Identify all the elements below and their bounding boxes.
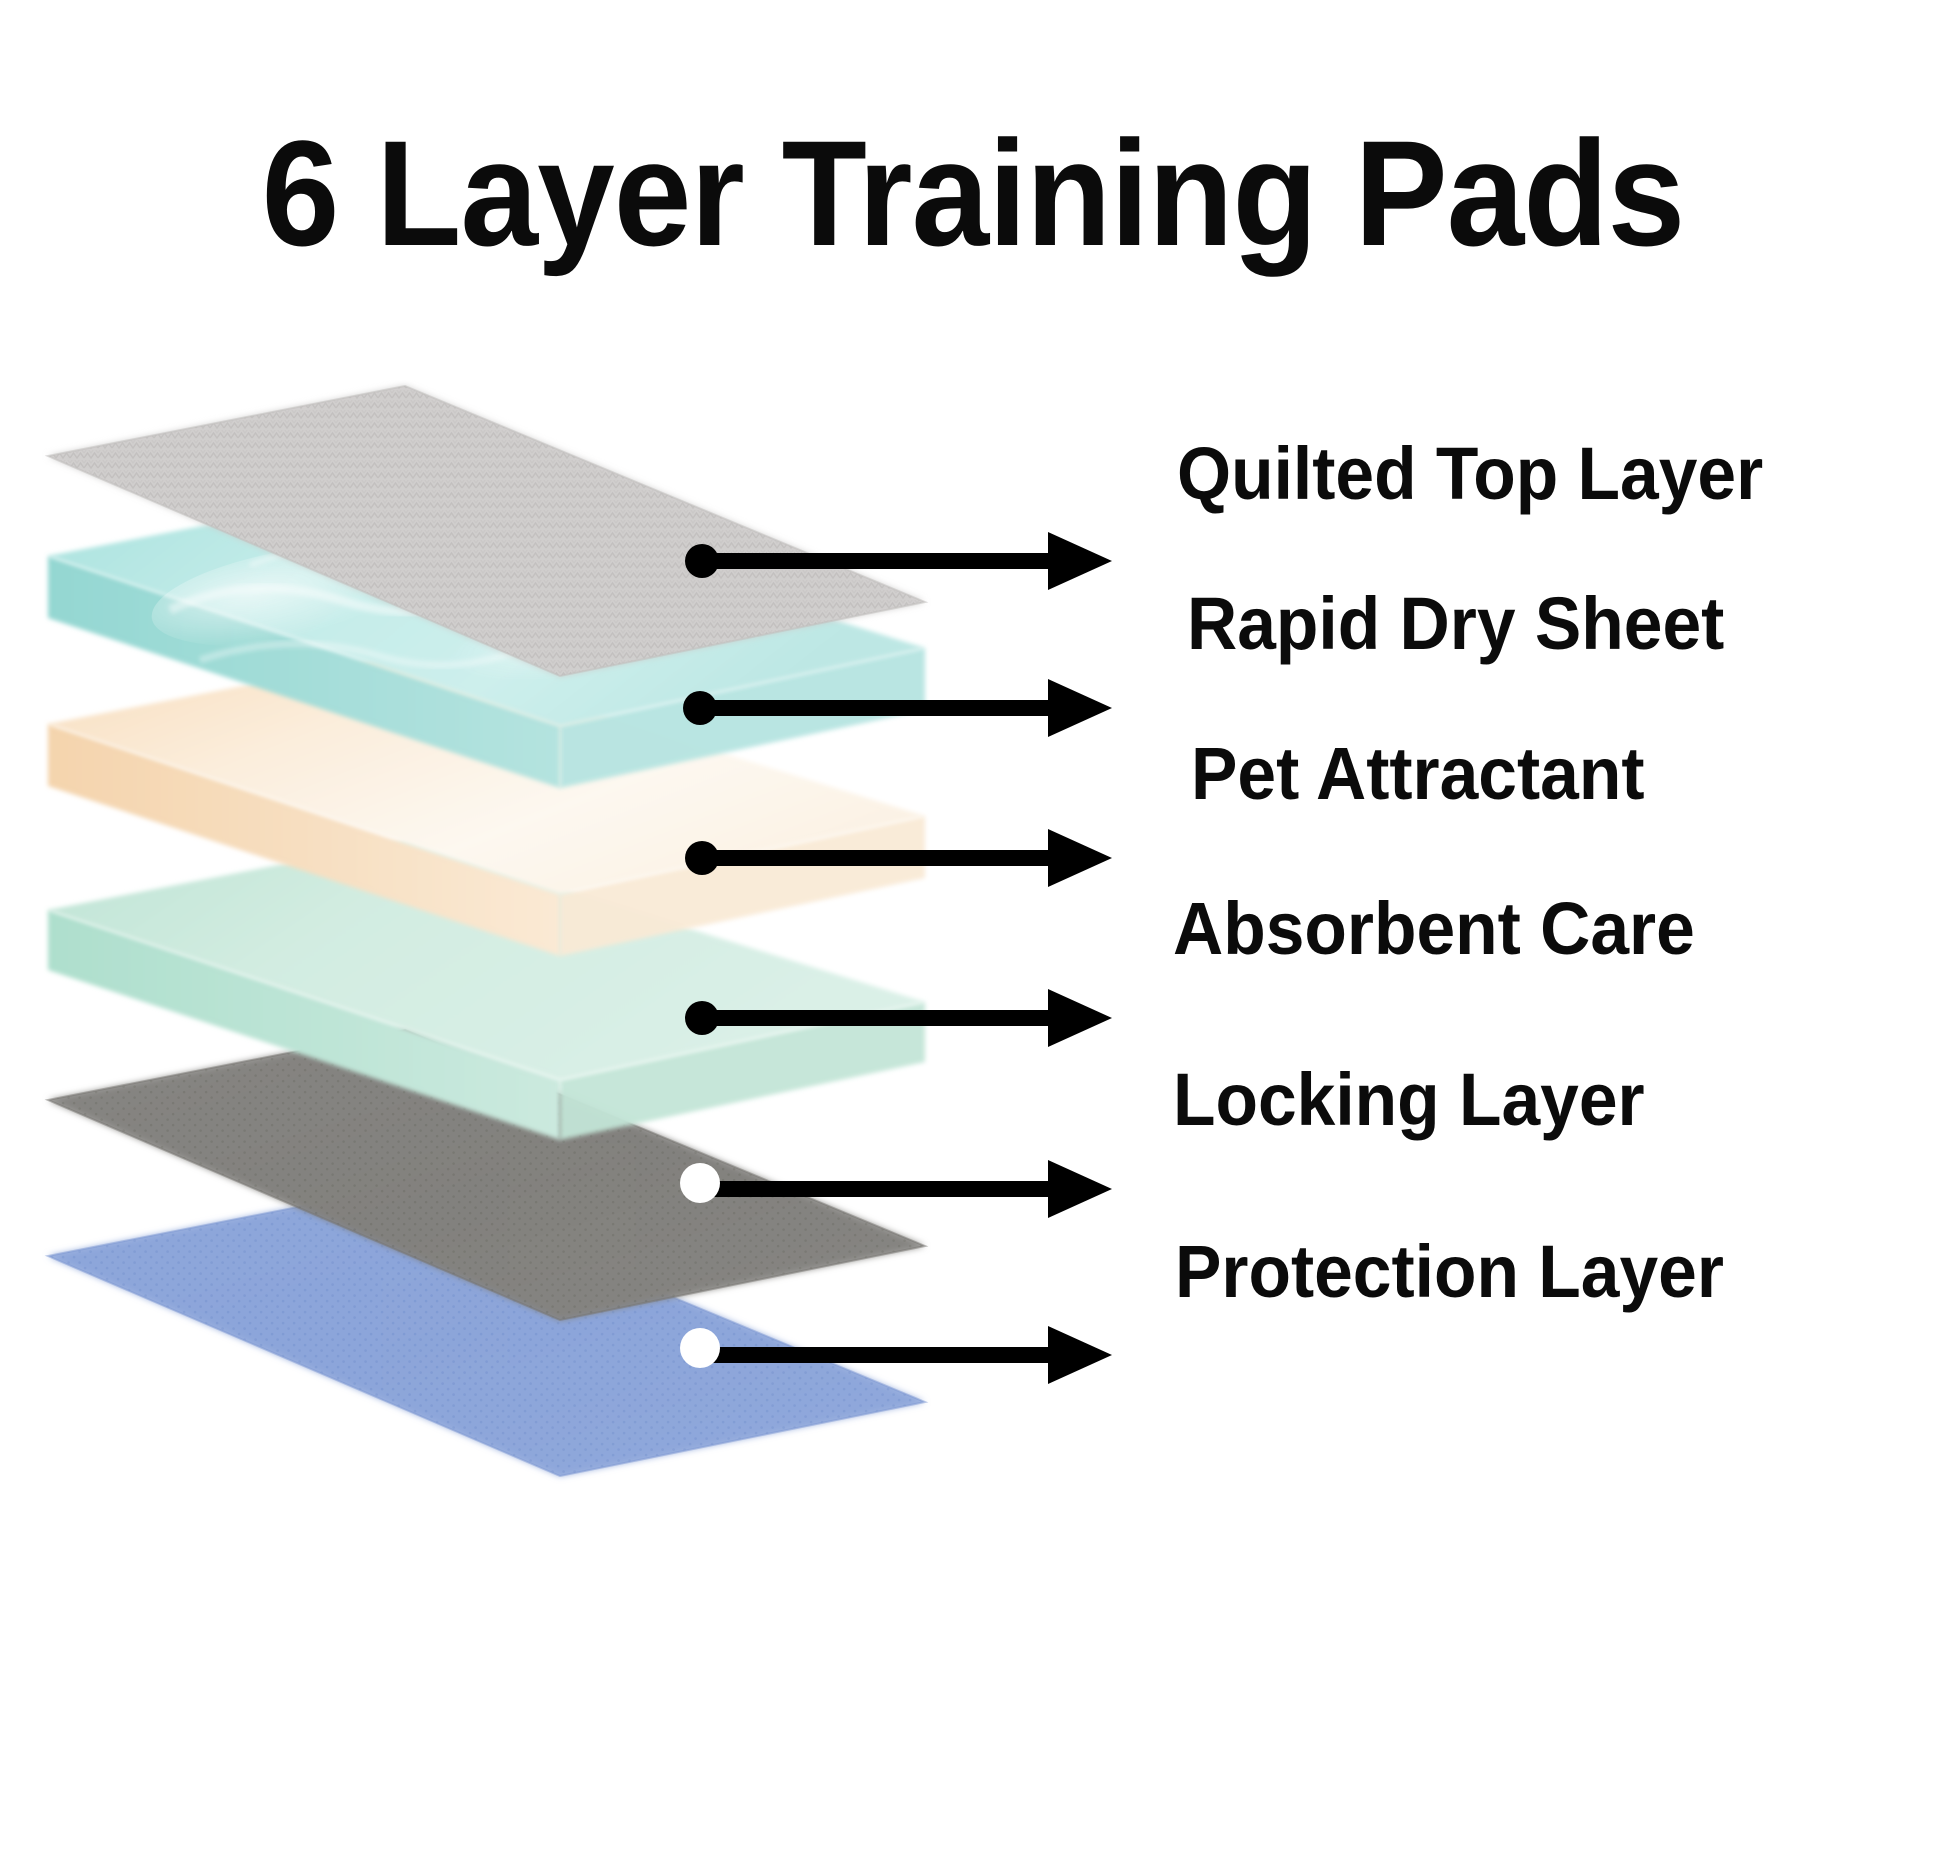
layer-stack-illustration [0,380,1010,1620]
infographic-canvas: 6 Layer Training Pads [0,0,1946,1865]
layer-label-absorbent-care: Absorbent Care [1173,892,1695,966]
page-title: 6 Layer Training Pads [68,118,1878,268]
layer-label-protection-layer: Protection Layer [1175,1235,1724,1309]
layer-label-quilted-top-layer: Quilted Top Layer [1177,437,1763,511]
layer-label-locking-layer: Locking Layer [1173,1063,1645,1137]
layer-label-column: Quilted Top Layer Rapid Dry Sheet Pet At… [1165,380,1925,1620]
layer-label-rapid-dry-sheet: Rapid Dry Sheet [1187,587,1724,661]
layer-label-pet-attractant: Pet Attractant [1191,737,1645,811]
